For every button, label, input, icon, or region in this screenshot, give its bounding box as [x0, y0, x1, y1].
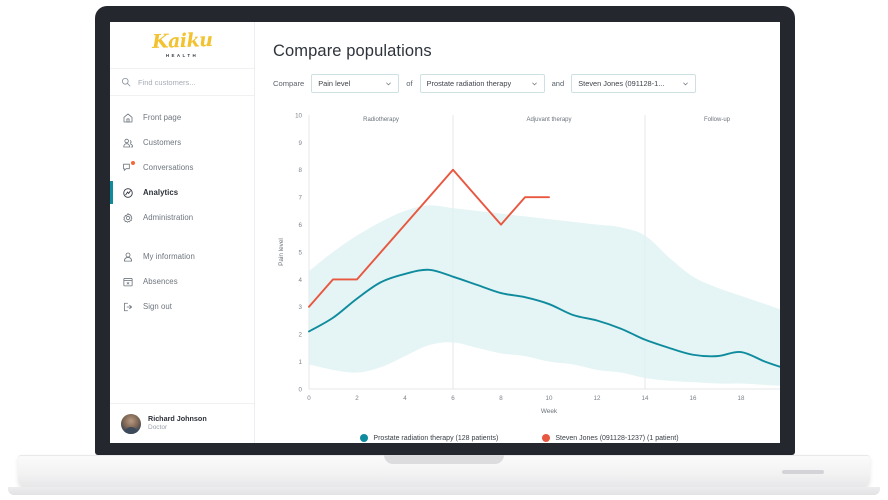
phase-label: Follow-up: [704, 117, 731, 123]
chevron-down-icon: [385, 80, 392, 87]
y-tick-label: 1: [299, 359, 303, 366]
y-tick-label: 3: [299, 304, 303, 311]
logo-subtitle: HEALTH: [166, 53, 198, 58]
sidebar-item-absences[interactable]: Absences: [110, 269, 254, 294]
laptop-screen-bezel: Kaiku HEALTH: [95, 6, 795, 455]
nav-group-primary: Front page Customers: [110, 96, 254, 230]
users-icon: [122, 137, 134, 149]
y-tick-label: 10: [295, 112, 302, 119]
compare-label: Compare: [273, 79, 304, 88]
sidebar-item-customers[interactable]: Customers: [110, 130, 254, 155]
y-tick-label: 8: [299, 167, 303, 174]
y-tick-label: 7: [299, 195, 303, 202]
application-window: Kaiku HEALTH: [110, 22, 780, 443]
chart-legend: Prostate radiation therapy (128 patients…: [273, 434, 766, 442]
notification-badge: [130, 160, 136, 166]
legend-item[interactable]: Prostate radiation therapy (128 patients…: [360, 434, 498, 442]
population-select-value: Prostate radiation therapy: [427, 79, 512, 88]
sidebar-item-label: Sign out: [143, 302, 172, 311]
x-axis-label: Week: [541, 408, 558, 415]
search-input[interactable]: [138, 78, 243, 87]
sidebar-item-label: Front page: [143, 113, 181, 122]
sidebar-item-label: Customers: [143, 138, 181, 147]
sidebar-item-sign-out[interactable]: Sign out: [110, 294, 254, 319]
y-tick-label: 4: [299, 277, 303, 284]
x-tick-label: 0: [307, 395, 311, 402]
y-axis-label: Pain level: [278, 238, 285, 266]
y-tick-label: 6: [299, 222, 303, 229]
legend-label: Prostate radiation therapy (128 patients…: [373, 435, 498, 442]
laptop-base-notch: [384, 455, 504, 464]
avatar: [121, 414, 141, 434]
sidebar-item-conversations[interactable]: Conversations: [110, 155, 254, 180]
phase-label: Adjuvant therapy: [526, 117, 571, 123]
laptop-foot: [8, 487, 880, 495]
patient-select[interactable]: Steven Jones (091128-1...: [571, 74, 696, 93]
sidebar-item-analytics[interactable]: Analytics: [110, 180, 254, 205]
chevron-down-icon: [682, 80, 689, 87]
search-row[interactable]: [110, 69, 254, 96]
page-title: Compare populations: [273, 42, 766, 61]
home-icon: [122, 112, 134, 124]
sidebar-item-label: Absences: [143, 277, 178, 286]
x-tick-label: 16: [690, 395, 697, 402]
x-tick-label: 4: [403, 395, 407, 402]
user-profile[interactable]: Richard Johnson Doctor: [110, 403, 254, 443]
population-select[interactable]: Prostate radiation therapy: [420, 74, 545, 93]
x-tick-label: 14: [642, 395, 649, 402]
gear-icon: [122, 212, 134, 224]
chevron-down-icon: [531, 80, 538, 87]
calendar-icon: [122, 276, 134, 288]
sign-out-icon: [122, 301, 134, 313]
sidebar-item-front-page[interactable]: Front page: [110, 105, 254, 130]
x-tick-label: 10: [546, 395, 553, 402]
y-tick-label: 0: [299, 386, 303, 393]
laptop-base-mark: [782, 470, 824, 474]
main-content: Compare populations Compare Pain level o…: [255, 22, 780, 443]
pain-level-line-chart[interactable]: 01234567891002468101214161820WeekPain le…: [273, 99, 780, 429]
chart-container: 01234567891002468101214161820WeekPain le…: [273, 99, 766, 443]
brand-logo[interactable]: Kaiku HEALTH: [110, 22, 254, 69]
filter-bar: Compare Pain level of Prostate radiation…: [273, 74, 766, 93]
legend-swatch: [542, 434, 550, 442]
x-tick-label: 12: [594, 395, 601, 402]
user-name: Richard Johnson: [148, 414, 207, 424]
metric-select[interactable]: Pain level: [311, 74, 399, 93]
sidebar-item-label: Conversations: [143, 163, 194, 172]
nav-group-secondary: My information Absences: [110, 230, 254, 319]
analytics-icon: [122, 187, 134, 199]
of-label: of: [406, 79, 412, 88]
x-tick-label: 8: [499, 395, 503, 402]
y-tick-label: 5: [299, 249, 303, 256]
confidence-band: [309, 205, 780, 386]
user-role: Doctor: [148, 424, 207, 433]
person-icon: [122, 251, 134, 263]
y-tick-label: 2: [299, 332, 303, 339]
legend-swatch: [360, 434, 368, 442]
sidebar: Kaiku HEALTH: [110, 22, 255, 443]
phase-label: Radiotherapy: [363, 117, 399, 123]
sidebar-item-label: My information: [143, 252, 195, 261]
search-icon: [121, 77, 131, 87]
screen-content: Kaiku HEALTH: [110, 22, 780, 443]
y-tick-label: 9: [299, 140, 303, 147]
x-tick-label: 18: [738, 395, 745, 402]
patient-select-value: Steven Jones (091128-1...: [578, 79, 664, 88]
sidebar-item-administration[interactable]: Administration: [110, 205, 254, 230]
legend-label: Steven Jones (091128-1237) (1 patient): [555, 435, 678, 442]
chat-icon: [122, 162, 134, 174]
metric-select-value: Pain level: [318, 79, 350, 88]
sidebar-item-label: Administration: [143, 213, 193, 222]
legend-item[interactable]: Steven Jones (091128-1237) (1 patient): [542, 434, 678, 442]
logo-wordmark: Kaiku: [151, 31, 212, 52]
and-label: and: [552, 79, 565, 88]
sidebar-item-my-information[interactable]: My information: [110, 244, 254, 269]
sidebar-item-label: Analytics: [143, 188, 178, 197]
x-tick-label: 6: [451, 395, 455, 402]
laptop-mockup: Kaiku HEALTH: [0, 0, 888, 500]
x-tick-label: 2: [355, 395, 359, 402]
